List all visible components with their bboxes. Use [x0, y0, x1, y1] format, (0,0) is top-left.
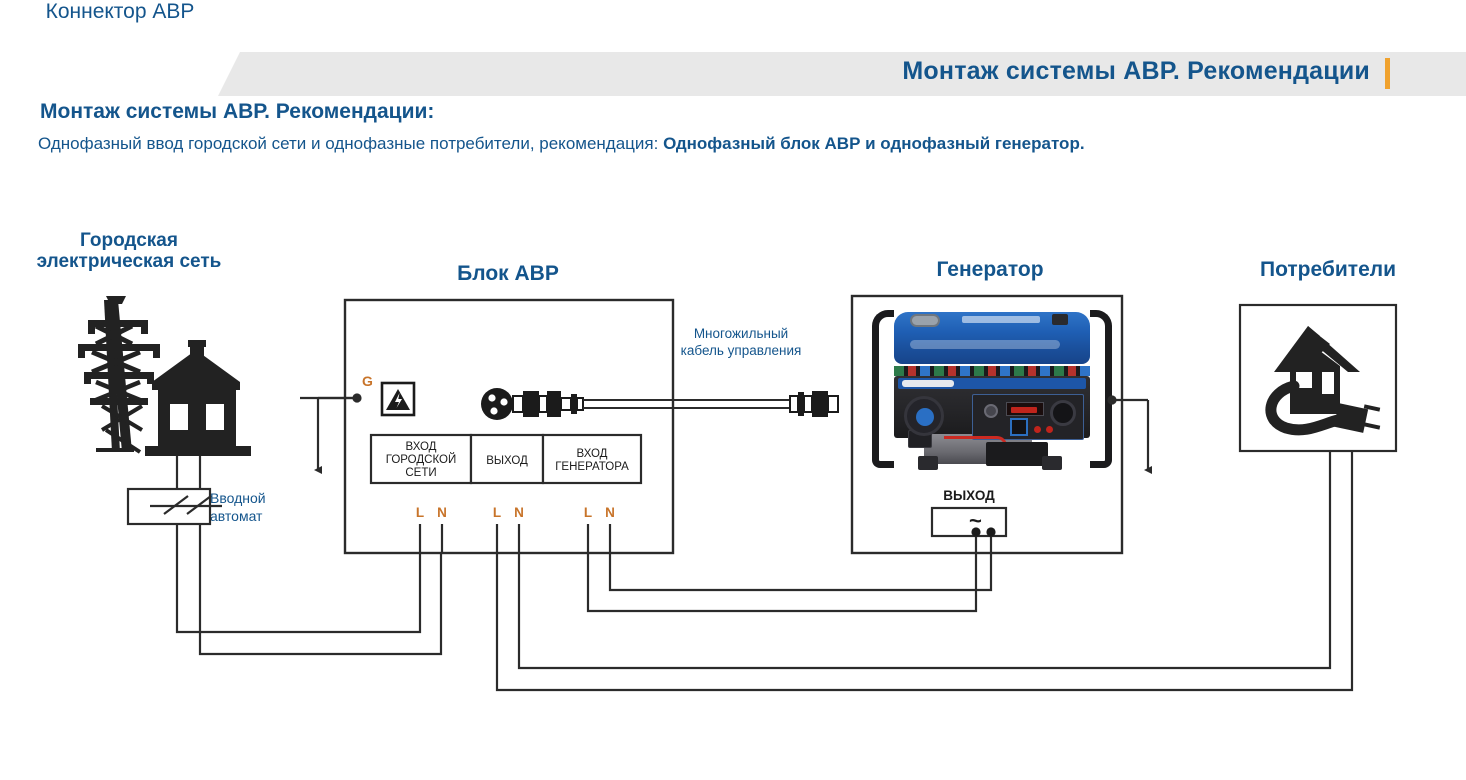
- power-tower-house-icon: [78, 296, 251, 456]
- terminal-mains-line1: ВХОД: [406, 441, 437, 453]
- consumers-down-lead: [1330, 451, 1352, 470]
- generator-output-symbol: ~: [932, 508, 1006, 537]
- label-generator-output: ВЫХОД: [943, 488, 995, 503]
- abp-block-enclosure: [345, 300, 673, 553]
- pin-label-mains-l: L: [416, 505, 424, 520]
- high-voltage-warning-icon: [382, 383, 414, 415]
- terminal-genin-line2: ГЕНЕРАТОРА: [555, 461, 629, 473]
- pin-label-output-l: L: [493, 505, 501, 520]
- terminal-mains-line3: СЕТИ: [405, 467, 436, 479]
- pin-label-genin-l: L: [584, 505, 592, 520]
- pin-label-output-n: N: [514, 505, 524, 520]
- input-breaker-symbol: [128, 489, 222, 524]
- terminal-mains-line2: ГОРОДСКОЙ: [386, 453, 457, 466]
- generator-right-node: [1107, 395, 1148, 470]
- slide-root: Монтаж системы АВР. Рекомендации Монтаж …: [0, 0, 1466, 780]
- terminal-output-line1: ВЫХОД: [486, 455, 528, 467]
- wiring-diagram: G: [0, 0, 1466, 780]
- pin-label-genin-n: N: [605, 505, 615, 520]
- ac-wave-symbol: ~: [969, 508, 982, 533]
- pin-label-mains-n: N: [437, 505, 447, 520]
- label-ground-g: G: [362, 373, 373, 389]
- control-cable-plug-generator: [790, 391, 838, 417]
- terminal-genin-line1: ВХОД: [577, 448, 608, 460]
